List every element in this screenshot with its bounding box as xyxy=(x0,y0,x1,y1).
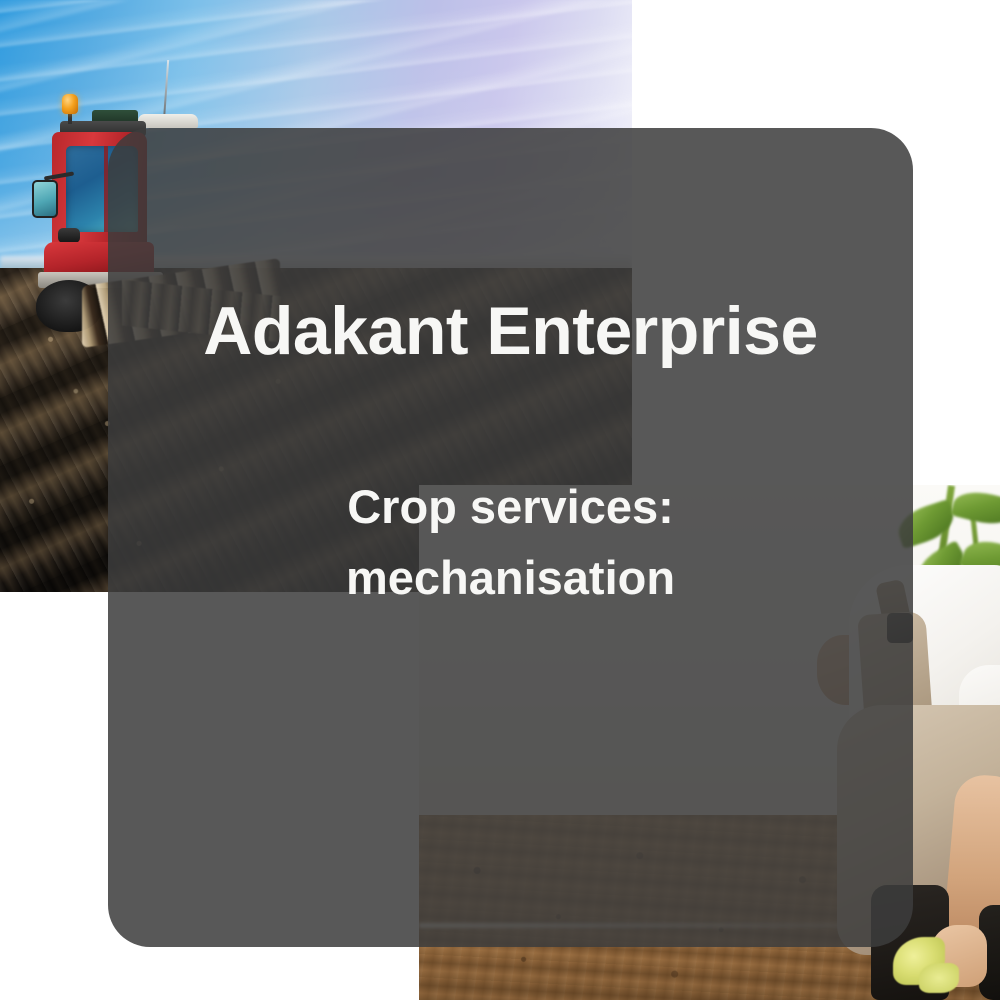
page-title: Adakant Enterprise xyxy=(174,294,847,369)
side-mirror-icon xyxy=(32,180,58,218)
overlay-card: Adakant Enterprise Crop services: mechan… xyxy=(108,128,913,947)
poster-canvas: Adakant Enterprise Crop services: mechan… xyxy=(0,0,1000,1000)
service-subtitle: Crop services: mechanisation xyxy=(174,471,847,614)
amber-beacon-light-icon xyxy=(62,94,78,114)
seedling-leaf-icon xyxy=(919,963,959,993)
tractor-canopy xyxy=(138,114,198,128)
work-lamp-icon xyxy=(58,228,80,243)
